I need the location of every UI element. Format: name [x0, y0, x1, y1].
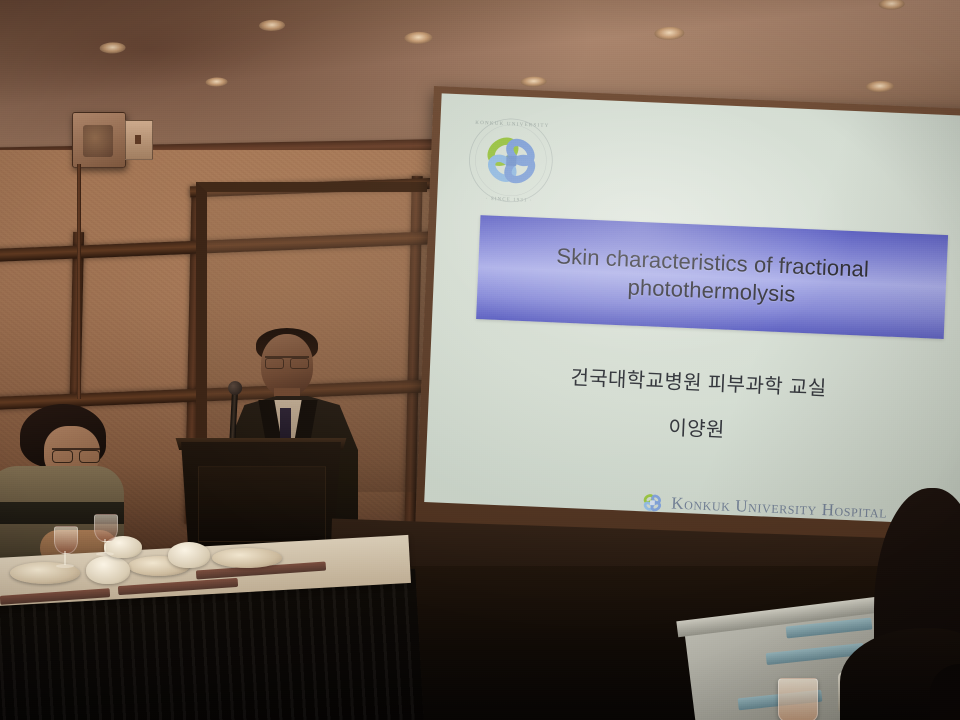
- wall-conduit: [77, 164, 81, 399]
- wall-outlet-plate: [125, 120, 153, 160]
- slide-affiliation: 건국대학교병원 피부과학 교실: [429, 355, 960, 407]
- svg-text:KONKUK UNIVERSITY: KONKUK UNIVERSITY: [475, 121, 549, 129]
- wine-glass-1: [52, 526, 78, 570]
- podium-front-panel: [198, 466, 326, 542]
- projection-screen: KONKUK UNIVERSITY · SINCE 1931 · Skin ch…: [415, 86, 960, 561]
- slide-surface: KONKUK UNIVERSITY · SINCE 1931 · Skin ch…: [424, 93, 960, 525]
- svg-text:· SINCE 1931 ·: · SINCE 1931 ·: [486, 197, 533, 204]
- water-glass-1: [778, 678, 818, 720]
- slide-title-band: Skin characteristics of fractional photo…: [476, 215, 948, 339]
- glass-stem: [104, 539, 106, 553]
- wine-glass-2: [92, 514, 118, 558]
- audience-glasses-icon: [52, 448, 100, 461]
- presenter-glasses-icon: [265, 356, 309, 367]
- plate-3: [212, 548, 282, 568]
- glass-base: [96, 552, 114, 556]
- glass-base: [56, 564, 74, 568]
- cup-3: [168, 542, 210, 568]
- glass-bowl: [54, 526, 78, 554]
- slide-presenter-name: 이양원: [427, 401, 960, 453]
- wall-speaker: [72, 112, 126, 168]
- speaker-grille-icon: [83, 125, 113, 157]
- slide-title: Skin characteristics of fractional photo…: [541, 242, 884, 312]
- glass-stem: [64, 551, 66, 565]
- university-emblem-icon: KONKUK UNIVERSITY · SINCE 1931 ·: [463, 112, 559, 208]
- photo-scene: KONKUK UNIVERSITY · SINCE 1931 · Skin ch…: [0, 0, 960, 720]
- glass-bowl: [94, 514, 118, 542]
- cup-1: [86, 556, 130, 584]
